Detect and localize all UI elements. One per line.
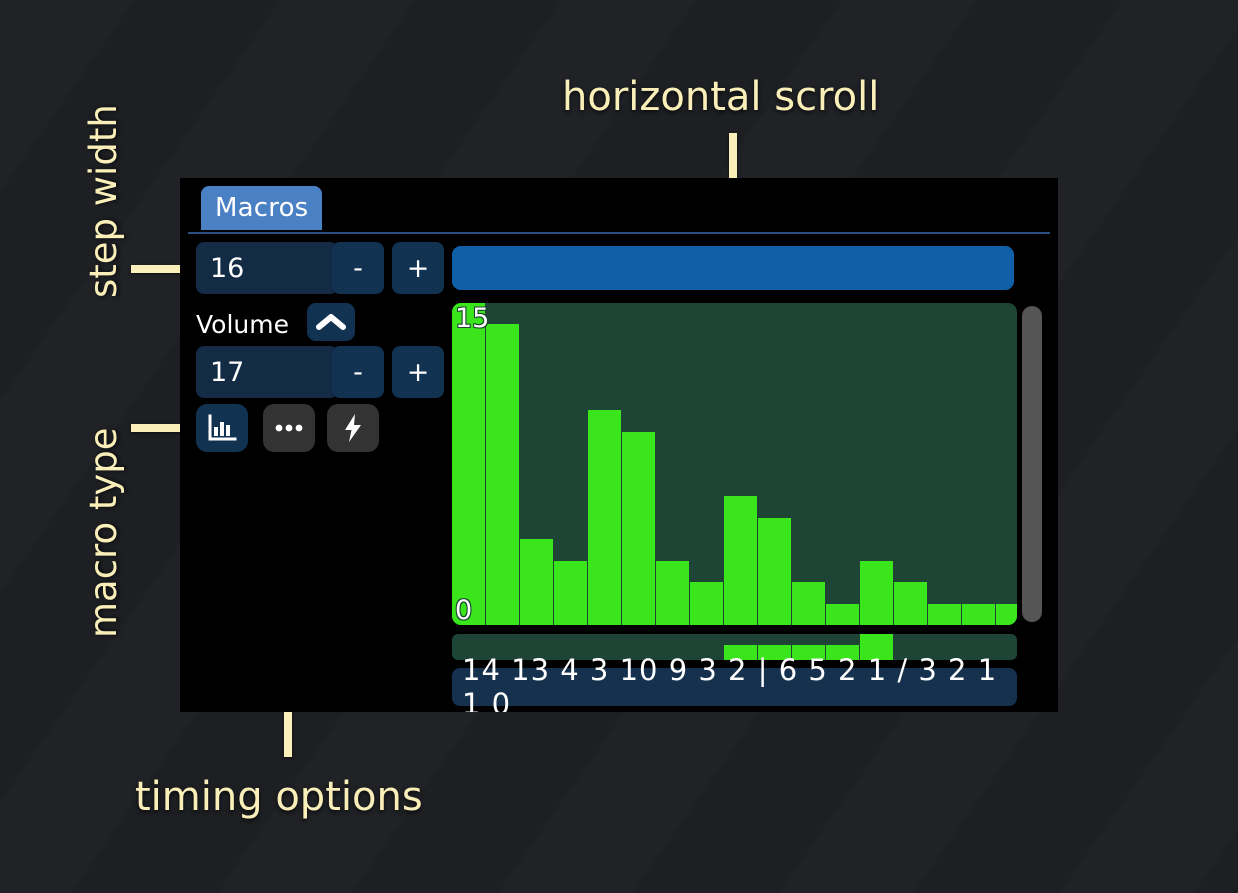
graph-max-label: 15	[455, 303, 489, 334]
volume-increment-label: +	[407, 357, 430, 388]
macro-graph[interactable]: 15 0	[452, 303, 1017, 625]
annotation-timing-options: timing options	[135, 774, 423, 820]
macro-bar[interactable]	[996, 604, 1017, 625]
macro-bar[interactable]	[724, 496, 757, 625]
volume-value: 17	[210, 357, 244, 388]
tab-underline	[188, 232, 1050, 234]
macro-bar[interactable]	[928, 604, 961, 625]
macro-bar[interactable]	[758, 518, 791, 625]
macro-bar[interactable]	[656, 561, 689, 625]
macro-graph-bars[interactable]	[452, 303, 1017, 625]
step-width-decrement-label: -	[353, 253, 363, 284]
timing-options-button[interactable]	[263, 404, 315, 452]
macro-bar[interactable]	[554, 561, 587, 625]
graph-min-label: 0	[455, 595, 472, 625]
volume-increment-button[interactable]: +	[392, 346, 444, 398]
lightning-action-button[interactable]	[327, 404, 379, 452]
annotation-horizontal-scroll: horizontal scroll	[562, 74, 879, 120]
step-width-input[interactable]: 16	[196, 242, 338, 294]
chevron-up-icon	[316, 312, 346, 332]
sequence-readout-text: 14 13 4 3 10 9 3 2 | 6 5 2 1 / 3 2 1 1 0	[462, 653, 1017, 712]
macro-bar[interactable]	[826, 604, 859, 625]
lightning-bolt-icon	[342, 413, 364, 443]
annotation-step-width: step width	[82, 104, 125, 298]
macro-bar[interactable]	[588, 410, 621, 625]
step-width-decrement-button[interactable]: -	[332, 242, 384, 294]
volume-input[interactable]: 17	[196, 346, 338, 398]
macro-bar[interactable]	[452, 303, 485, 625]
macro-bar[interactable]	[690, 582, 723, 625]
vertical-scrollbar[interactable]	[1022, 306, 1042, 622]
macros-panel: Macros 16 - + Volume 17 - +	[180, 178, 1058, 712]
macro-bar[interactable]	[894, 582, 927, 625]
step-width-increment-button[interactable]: +	[392, 242, 444, 294]
sequence-readout[interactable]: 14 13 4 3 10 9 3 2 | 6 5 2 1 / 3 2 1 1 0	[452, 668, 1017, 706]
bar-chart-icon	[207, 414, 237, 442]
macro-bar[interactable]	[520, 539, 553, 625]
tab-strip: Macros	[180, 178, 1058, 234]
volume-label: Volume	[196, 308, 289, 342]
step-width-increment-label: +	[407, 253, 430, 284]
macro-bar[interactable]	[860, 561, 893, 625]
macro-bar[interactable]	[792, 582, 825, 625]
macro-bar[interactable]	[962, 604, 995, 625]
macro-graph-area: 15 0	[452, 303, 1017, 625]
macro-bar[interactable]	[622, 432, 655, 625]
tab-macros-label: Macros	[215, 193, 308, 223]
vertical-scrollbar-thumb[interactable]	[1022, 306, 1042, 622]
annotation-macro-type: macro type	[82, 427, 125, 638]
macro-bar[interactable]	[486, 324, 519, 625]
ellipsis-icon	[274, 423, 304, 433]
macro-type-bar-chart-button[interactable]	[196, 404, 248, 452]
horizontal-scrollbar[interactable]	[452, 246, 1014, 290]
volume-collapse-button[interactable]	[307, 303, 355, 341]
volume-decrement-label: -	[353, 357, 363, 388]
step-width-value: 16	[210, 253, 244, 284]
tab-macros[interactable]: Macros	[201, 186, 322, 230]
volume-decrement-button[interactable]: -	[332, 346, 384, 398]
horizontal-scrollbar-thumb[interactable]	[452, 246, 1014, 290]
